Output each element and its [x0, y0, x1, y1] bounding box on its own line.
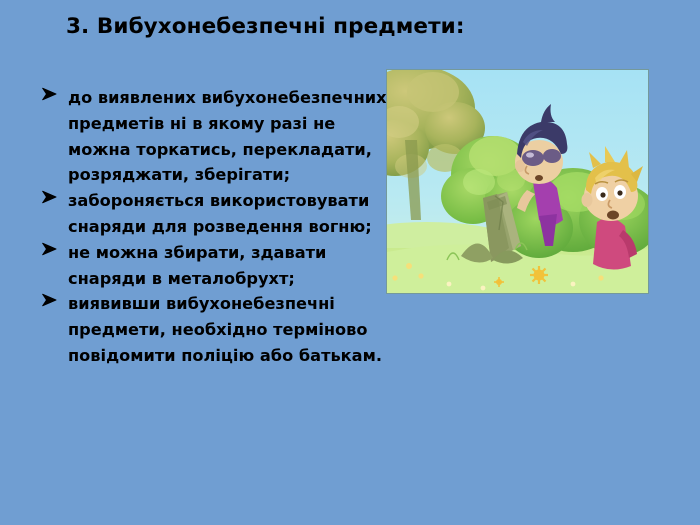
slide-canvas: 3. Вибухонебезпечні предмети: до виявлен… — [0, 0, 700, 525]
list-item: виявивши вибухонебезпечні предмети, необ… — [38, 291, 388, 368]
arrow-bullet-icon — [41, 87, 61, 107]
list-item: забороняється використовувати снаряди дл… — [38, 188, 388, 240]
list-item: не можна збирати, здавати снаряди в мета… — [38, 240, 388, 292]
page-title: 3. Вибухонебезпечні предмети: — [66, 14, 666, 41]
arrow-bullet-icon — [41, 293, 61, 313]
list-item-label: не можна збирати, здавати снаряди в мета… — [68, 240, 388, 292]
cartoon-children-in-meadow-illustration — [387, 70, 648, 293]
list-item-label: виявивши вибухонебезпечні предмети, необ… — [68, 291, 388, 368]
arrow-bullet-icon — [41, 190, 61, 210]
list-item-label: забороняється використовувати снаряди дл… — [68, 188, 388, 240]
bullet-list: до виявлених вибухонебезпечних предметів… — [38, 85, 388, 369]
list-item-label: до виявлених вибухонебезпечних предметів… — [68, 85, 388, 188]
list-item: до виявлених вибухонебезпечних предметів… — [38, 85, 388, 188]
arrow-bullet-icon — [41, 242, 61, 262]
